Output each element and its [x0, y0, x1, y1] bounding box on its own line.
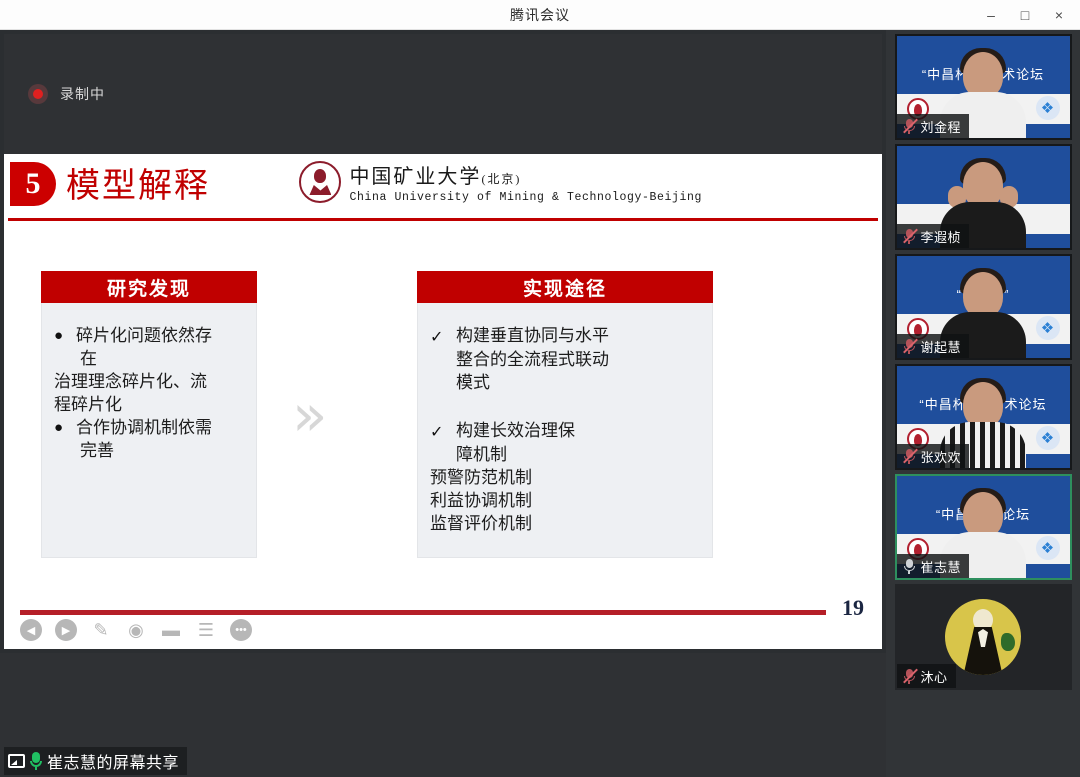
university-name-en: China University of Mining & Technology-… [349, 191, 702, 204]
tencent-meeting-window: 腾讯会议 – □ × 录制中 5 模型解释 [0, 0, 1080, 777]
list-item: 完善 [54, 440, 244, 463]
participant-rail[interactable]: 2022 “中昌杯” 术论坛 ❖ 刘金程 2022 [886, 30, 1080, 777]
footer-divider [20, 610, 826, 615]
participant-tile[interactable]: 2022 李遐桢 [895, 144, 1072, 250]
list-item: ✓ 构建垂直协同与水平 [430, 325, 700, 349]
participant-name: 张欢欢 [921, 447, 962, 466]
header-divider [8, 218, 878, 221]
screen-share-status: 崔志慧的屏幕共享 [4, 747, 187, 775]
maximize-button[interactable]: □ [1008, 0, 1042, 30]
participant-name-chip: 沐心 [897, 664, 956, 688]
pen-annotate-button[interactable]: ✎ [90, 619, 112, 641]
participant-name-chip: 刘金程 [897, 114, 970, 138]
slide-body: 研究发现 ● 碎片化问题依然存 在 治理理念碎片化、流 程碎片化 ● 合 [4, 226, 882, 611]
list-item: 程碎片化 [54, 394, 244, 417]
shared-screen-stage[interactable]: 录制中 5 模型解释 中国矿业大学(北京) China University o… [0, 30, 886, 777]
university-name-cn: 中国矿业大学(北京) [349, 160, 702, 189]
mic-muted-icon [902, 668, 917, 684]
participant-tile[interactable]: 沐心 [895, 584, 1072, 690]
university-logo: 中国矿业大学(北京) China University of Mining & … [299, 160, 702, 204]
bullet-dot-icon: ● [54, 325, 76, 346]
minimize-button[interactable]: – [974, 0, 1008, 30]
recording-label: 录制中 [60, 84, 105, 104]
check-icon: ✓ [430, 420, 456, 444]
recording-band: 录制中 [4, 34, 882, 154]
participant-name: 谢起慧 [921, 337, 962, 356]
list-item: 治理理念碎片化、流 [54, 371, 244, 394]
avatar [945, 599, 1021, 675]
mic-muted-icon [902, 448, 917, 464]
shared-content-region: 录制中 5 模型解释 中国矿业大学(北京) China University o… [4, 34, 882, 649]
mic-muted-icon [902, 338, 917, 354]
slide-page-number: 19 [842, 595, 864, 621]
participant-name-chip: 张欢欢 [897, 444, 970, 468]
participant-name: 李遐桢 [921, 227, 962, 246]
mic-muted-icon [902, 118, 917, 134]
comment-button[interactable]: ☰ [195, 619, 217, 641]
participant-tile[interactable]: 2022 “中昌杯” 术论坛 ❖ 刘金程 [895, 34, 1072, 140]
slide-title: 模型解释 [66, 158, 210, 207]
screen-share-label: 崔志慧的屏幕共享 [47, 749, 179, 773]
emblem-icon: ❖ [1036, 426, 1060, 450]
microphone-icon [29, 752, 43, 770]
list-item: 利益协调机制 [430, 490, 700, 513]
window-controls: – □ × [974, 0, 1076, 30]
list-item: ● 碎片化问题依然存 [54, 325, 244, 348]
list-item: ✓ 构建长效治理保 [430, 420, 700, 444]
university-crest-icon [299, 161, 341, 203]
participant-tile[interactable]: 2022 “中昌杯” ❖ 谢起慧 [895, 254, 1072, 360]
list-item: ● 合作协调机制依需 [54, 417, 244, 440]
double-chevron-right-icon: » [292, 386, 328, 444]
list-item: 障机制 [430, 444, 700, 467]
participant-name: 崔志慧 [921, 557, 962, 576]
panel-header-right: 实现途径 [417, 271, 713, 303]
list-item: 监督评价机制 [430, 513, 700, 536]
presentation-slide: 5 模型解释 中国矿业大学(北京) China University of Mi… [4, 154, 882, 649]
check-icon: ✓ [430, 325, 456, 349]
panel-implementation-path: 实现途径 ✓ 构建垂直协同与水平 整合的全流程式联动 模式 ✓ 构建长 [417, 271, 713, 558]
video-record-button[interactable]: ▬ [160, 619, 182, 641]
close-button[interactable]: × [1042, 0, 1076, 30]
list-item: 模式 [430, 372, 700, 395]
participant-tile[interactable]: 2022 “中昌杯” 学术论坛 ❖ 张欢欢 [895, 364, 1072, 470]
slide-header: 5 模型解释 中国矿业大学(北京) China University of Mi… [4, 154, 882, 226]
list-item: 预警防范机制 [430, 467, 700, 490]
participant-tile-active-speaker[interactable]: “中昌” 论坛 ❖ 崔志慧 [895, 474, 1072, 580]
list-item: 在 [54, 348, 244, 371]
previous-slide-button[interactable]: ◀ [20, 619, 42, 641]
panel-header-left: 研究发现 [41, 271, 257, 303]
mic-on-icon [902, 558, 917, 574]
participant-name-chip: 谢起慧 [897, 334, 970, 358]
bullet-dot-icon: ● [54, 417, 76, 438]
participant-name-chip: 崔志慧 [897, 554, 970, 578]
mic-muted-icon [902, 228, 917, 244]
screen-share-icon [8, 754, 25, 768]
emblem-icon: ❖ [1036, 96, 1060, 120]
participant-name-chip: 李遐桢 [897, 224, 970, 248]
section-number-badge: 5 [10, 162, 56, 206]
play-slideshow-button[interactable]: ▶ [55, 619, 77, 641]
slideshow-toolbar[interactable]: ◀ ▶ ✎ ◉ ▬ ☰ ••• [4, 611, 882, 649]
window-title: 腾讯会议 [510, 5, 570, 25]
more-options-button[interactable]: ••• [230, 619, 252, 641]
emblem-icon: ❖ [1036, 316, 1060, 340]
participant-name: 刘金程 [921, 117, 962, 136]
participant-name: 沐心 [921, 667, 948, 686]
title-bar: 腾讯会议 – □ × [0, 0, 1080, 30]
laser-pointer-button[interactable]: ◉ [125, 619, 147, 641]
list-item: 整合的全流程式联动 [430, 349, 700, 372]
panel-research-findings: 研究发现 ● 碎片化问题依然存 在 治理理念碎片化、流 程碎片化 ● 合 [41, 271, 257, 558]
emblem-icon: ❖ [1036, 536, 1060, 560]
recording-indicator-icon [28, 84, 48, 104]
